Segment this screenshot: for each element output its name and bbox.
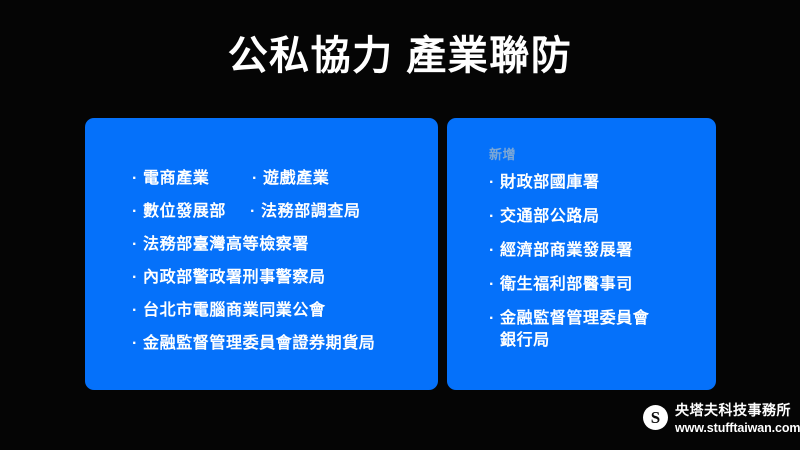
list-item[interactable]: · 經濟部商業發展署 bbox=[489, 240, 633, 262]
bullet-icon: · bbox=[132, 300, 143, 322]
list-item-label: 電商產業 bbox=[143, 168, 209, 190]
bullet-icon: · bbox=[250, 201, 261, 223]
list-row: · 電商產業 · 遊戲產業 bbox=[132, 168, 438, 190]
list-row: · 金融監督管理委員會證券期貨局 bbox=[132, 333, 438, 355]
list-item[interactable]: · 數位發展部 bbox=[132, 201, 236, 223]
list-item-label: 遊戲產業 bbox=[263, 168, 329, 190]
bullet-icon: · bbox=[132, 267, 143, 289]
list-row: · 經濟部商業發展署 bbox=[489, 240, 716, 262]
list-item[interactable]: · 電商產業 bbox=[132, 168, 238, 190]
list-item[interactable]: · 衛生福利部醫事司 bbox=[489, 274, 633, 296]
list-row: · 法務部臺灣高等檢察署 bbox=[132, 234, 438, 256]
logo-text-block: 央塔夫科技事務所 www.stufftaiwan.com bbox=[675, 400, 800, 435]
new-partners-label: 新增 bbox=[489, 144, 516, 163]
logo-website-url: www.stufftaiwan.com bbox=[675, 421, 800, 435]
existing-partners-list: · 電商產業 · 遊戲產業 · 數位發展部 · 法務部調查局 bbox=[85, 168, 438, 355]
list-row: · 台北市電腦商業同業公會 bbox=[132, 300, 438, 322]
bullet-icon: · bbox=[132, 333, 143, 355]
list-item-label: 交通部公路局 bbox=[500, 206, 600, 228]
new-partners-list: · 財政部國庫署 · 交通部公路局 · 經濟部商業發展署 · bbox=[447, 172, 716, 352]
list-item-label-line1: 金融監督管理委員會 bbox=[500, 310, 649, 327]
list-row: · 金融監督管理委員會 銀行局 bbox=[489, 308, 716, 352]
list-row: · 交通部公路局 bbox=[489, 206, 716, 228]
bullet-icon: · bbox=[489, 308, 500, 330]
list-item-label: 經濟部商業發展署 bbox=[500, 240, 633, 262]
list-item-label: 衛生福利部醫事司 bbox=[500, 274, 633, 296]
list-item-label: 台北市電腦商業同業公會 bbox=[143, 300, 326, 322]
bullet-icon: · bbox=[489, 206, 500, 228]
list-item[interactable]: · 遊戲產業 bbox=[252, 168, 329, 190]
new-partners-panel: 新增 · 財政部國庫署 · 交通部公路局 · 經濟部商業發展署 bbox=[447, 118, 716, 390]
brand-logo: S 央塔夫科技事務所 www.stufftaiwan.com bbox=[643, 400, 800, 435]
list-item[interactable]: · 金融監督管理委員會證券期貨局 bbox=[132, 333, 375, 355]
list-item[interactable]: · 金融監督管理委員會 銀行局 bbox=[489, 308, 649, 352]
list-row: · 衛生福利部醫事司 bbox=[489, 274, 716, 296]
list-item-label: 金融監督管理委員會證券期貨局 bbox=[143, 333, 375, 355]
bullet-icon: · bbox=[132, 201, 143, 223]
list-item-label: 財政部國庫署 bbox=[500, 172, 600, 194]
list-row: · 財政部國庫署 bbox=[489, 172, 716, 194]
bullet-icon: · bbox=[489, 240, 500, 262]
list-item-label: 法務部臺灣高等檢察署 bbox=[143, 234, 309, 256]
page-title: 公私協力 產業聯防 bbox=[0, 33, 800, 79]
list-item[interactable]: · 交通部公路局 bbox=[489, 206, 600, 228]
bullet-icon: · bbox=[252, 168, 263, 190]
list-item[interactable]: · 內政部警政署刑事警察局 bbox=[132, 267, 326, 289]
existing-partners-panel: · 電商產業 · 遊戲產業 · 數位發展部 · 法務部調查局 bbox=[85, 118, 438, 390]
logo-company-name: 央塔夫科技事務所 bbox=[675, 400, 800, 420]
bullet-icon: · bbox=[489, 274, 500, 296]
bullet-icon: · bbox=[489, 172, 500, 194]
logo-mark-letter: S bbox=[651, 409, 660, 426]
list-row: · 數位發展部 · 法務部調查局 bbox=[132, 201, 438, 223]
bullet-icon: · bbox=[132, 234, 143, 256]
list-item-label-multiline: 金融監督管理委員會 銀行局 bbox=[500, 308, 649, 352]
list-item-label: 內政部警政署刑事警察局 bbox=[143, 267, 326, 289]
logo-circle-s-icon: S bbox=[643, 405, 668, 430]
slide-root: 公私協力 產業聯防 · 電商產業 · 遊戲產業 · 數位發展部 bbox=[0, 0, 800, 450]
list-item[interactable]: · 法務部臺灣高等檢察署 bbox=[132, 234, 309, 256]
list-item[interactable]: · 財政部國庫署 bbox=[489, 172, 600, 194]
list-item-label-line2: 銀行局 bbox=[500, 330, 649, 352]
bullet-icon: · bbox=[132, 168, 143, 190]
list-item-label: 數位發展部 bbox=[143, 201, 226, 223]
list-item-label: 法務部調查局 bbox=[261, 201, 361, 223]
list-item[interactable]: · 法務部調查局 bbox=[250, 201, 361, 223]
list-row: · 內政部警政署刑事警察局 bbox=[132, 267, 438, 289]
list-item[interactable]: · 台北市電腦商業同業公會 bbox=[132, 300, 326, 322]
